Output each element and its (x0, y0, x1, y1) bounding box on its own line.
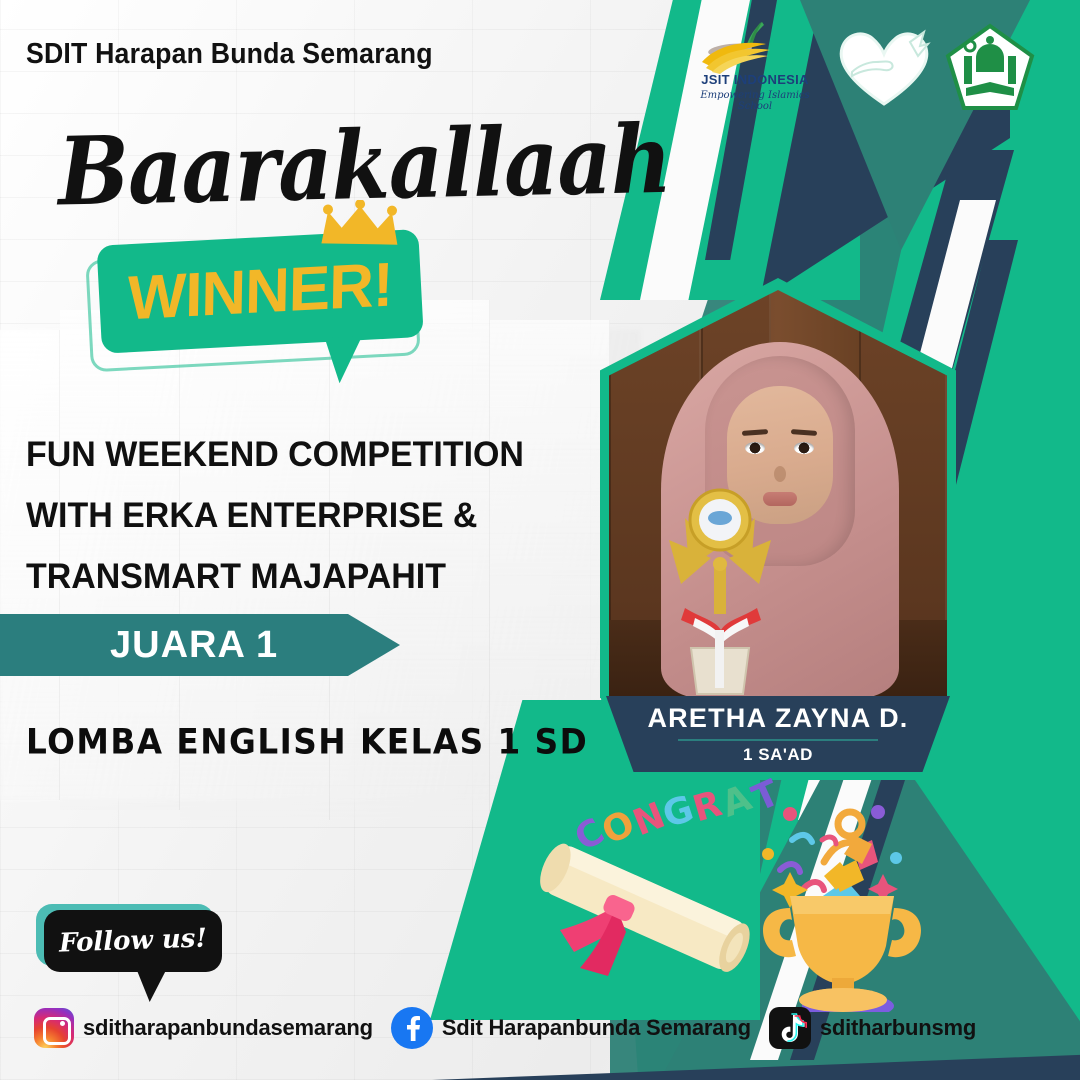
tiktok-icon (769, 1007, 811, 1049)
follow-us-badge: Follow us! (32, 900, 232, 1000)
heart-hands-logo (832, 22, 936, 110)
facebook-icon (391, 1007, 433, 1049)
rank-banner: JUARA 1 (0, 614, 400, 676)
jsit-logo-title: JSIT INDONESIA (690, 72, 820, 87)
jsit-logo-tagline: Empowering Islamics School (690, 90, 820, 112)
follow-us-bubble: Follow us! (44, 910, 222, 972)
follow-us-label: Follow us! (59, 923, 208, 958)
facebook-handle: Sdit Harapanbunda Semarang (442, 1015, 751, 1041)
social-footer: sditharapanbundasemarang Sdit Harapanbun… (0, 1000, 1080, 1056)
follow-us-tail (136, 968, 174, 1002)
tiktok-handle: sditharbunsmg (820, 1015, 976, 1041)
competition-line: WITH ERKA ENTERPRISE & (26, 485, 511, 546)
competition-line: FUN WEEKEND COMPETITION (26, 424, 511, 485)
school-name: SDIT Harapan Bunda Semarang (26, 38, 433, 71)
winner-photo (609, 290, 947, 698)
social-tiktok[interactable]: sditharbunsmg (769, 1007, 976, 1049)
kemenag-pentagon-logo (944, 22, 1036, 114)
social-instagram[interactable]: sditharapanbundasemarang (34, 1008, 373, 1048)
crown-icon (317, 199, 402, 248)
trophy-in-photo (645, 480, 795, 698)
poster-canvas: SDIT Harapan Bunda Semarang JSIT INDONES… (0, 0, 1080, 1080)
competition-category: LOMBA ENGLISH KELAS 1 SD (26, 721, 588, 762)
competition-description: FUN WEEKEND COMPETITION WITH ERKA ENTERP… (26, 424, 526, 607)
competition-line: TRANSMART MAJAPAHIT (26, 546, 511, 607)
winner-name: ARETHA ZAYNA D. (647, 703, 908, 734)
winner-badge: WINNER! (75, 229, 422, 387)
rank-label: JUARA 1 (110, 624, 278, 667)
trophy-confetti-icon (728, 788, 958, 1012)
instagram-handle: sditharapanbundasemarang (83, 1015, 373, 1041)
jsit-indonesia-logo: JSIT INDONESIA Empowering Islamics Schoo… (690, 18, 820, 118)
congrats-illustration: CONGRATS (520, 762, 960, 1012)
social-facebook[interactable]: Sdit Harapanbunda Semarang (391, 1007, 751, 1049)
instagram-icon (34, 1008, 74, 1048)
